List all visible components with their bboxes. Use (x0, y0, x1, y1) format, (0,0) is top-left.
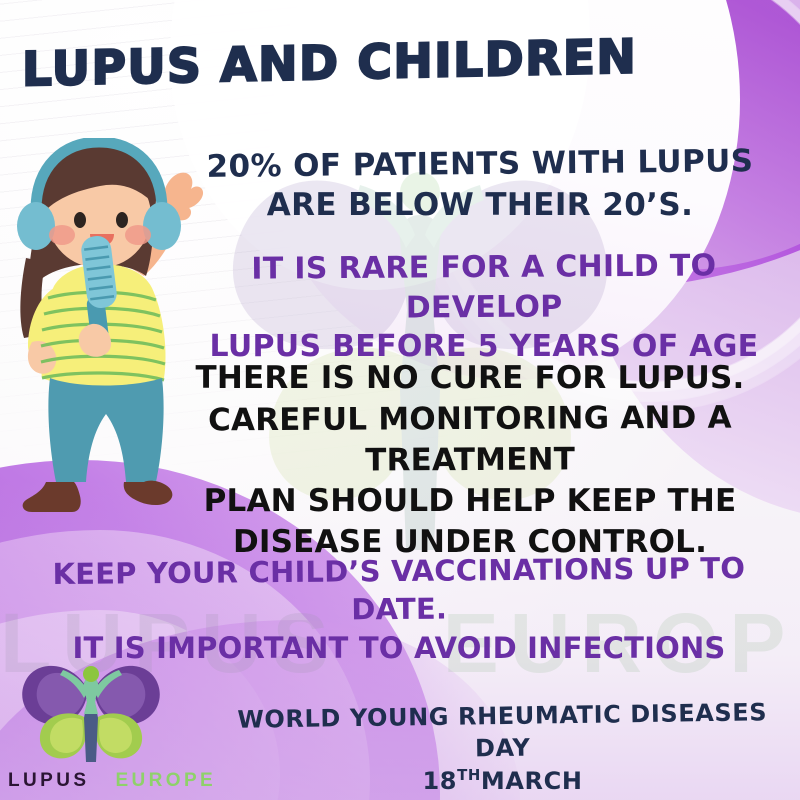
paragraph-stat-under-20: 20% OF PATIENTS WITH LUPUS ARE BELOW THE… (170, 144, 790, 226)
page-title: LUPUS AND CHILDREN (22, 30, 637, 98)
logo-word-lupus: LUPUS (8, 770, 89, 791)
logo-wordmark: LUPUS EUROPE (8, 770, 173, 792)
paragraph-vaccinations: KEEP YOUR CHILD’S VACCINATIONS UP TO DAT… (14, 552, 784, 667)
poster-canvas: LUPUS EUROPE (0, 0, 800, 800)
lupus-europe-logo[interactable]: LUPUS EUROPE (8, 656, 173, 792)
paragraph-rare-before-5: IT IS RARE FOR A CHILD TO DEVELOP LUPUS … (178, 248, 790, 367)
event-month: MARCH (481, 767, 583, 795)
paragraph-line: ARE BELOW THEIR 20’S. (170, 185, 790, 226)
paragraph-line: IT IS RARE FOR A CHILD TO DEVELOP (178, 246, 791, 329)
event-date: 18THMARCH (215, 765, 790, 797)
poster-content: LUPUS AND CHILDREN 20% OF PATIENTS WITH … (0, 0, 800, 800)
event-day-number: 18 (422, 767, 457, 795)
paragraph-line: CAREFUL MONITORING AND A TREATMENT (145, 397, 795, 482)
paragraph-line: PLAN SHOULD HELP KEEP THE (145, 481, 795, 522)
event-footer: WORLD YOUNG RHEUMATIC DISEASES DAY 18THM… (215, 700, 790, 797)
butterfly-person-icon (16, 656, 166, 768)
logo-word-europe: EUROPE (115, 770, 216, 791)
event-name: WORLD YOUNG RHEUMATIC DISEASES DAY (215, 696, 791, 769)
event-day-suffix: TH (457, 766, 481, 784)
paragraph-line: KEEP YOUR CHILD’S VACCINATIONS UP TO DAT… (14, 549, 785, 632)
paragraph-no-cure: THERE IS NO CURE FOR LUPUS. CAREFUL MONI… (145, 358, 795, 563)
paragraph-line: 20% OF PATIENTS WITH LUPUS (170, 141, 790, 188)
paragraph-line: THERE IS NO CURE FOR LUPUS. (145, 358, 795, 399)
